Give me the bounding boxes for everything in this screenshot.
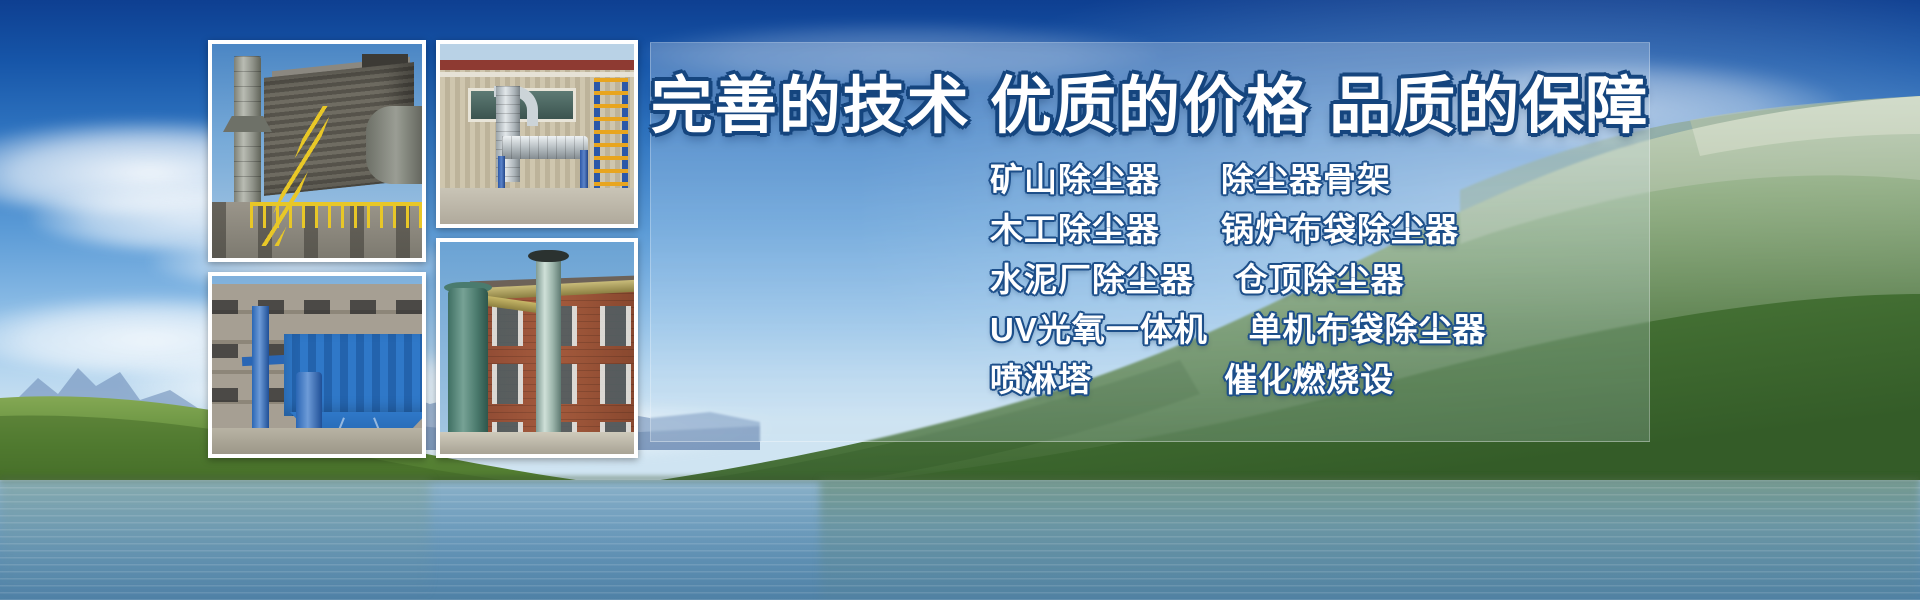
photo-brick-plant-stack-tower[interactable] (436, 238, 638, 458)
banner-headline: 完善的技术 优质的价格 品质的保障 (650, 55, 1650, 145)
product-photo-collage (208, 40, 638, 458)
product-line: UV光氧一体机 单机布袋除尘器 (990, 305, 1690, 355)
lake-water (0, 480, 1920, 600)
teal-scrubber-tower (448, 288, 488, 454)
horizontal-duct (502, 136, 588, 159)
galvanized-stack (536, 256, 561, 452)
ground-surface (440, 432, 634, 454)
product-line: 水泥厂除尘器 仓顶除尘器 (990, 255, 1690, 305)
concrete-yard (440, 188, 634, 224)
promo-banner: 完善的技术 优质的价格 品质的保障 矿山除尘器 除尘器骨架 木工除尘器 锅炉布袋… (0, 0, 1920, 600)
product-line: 矿山除尘器 除尘器骨架 (990, 155, 1690, 205)
eave-trim (440, 72, 634, 77)
stack-rain-cap (528, 250, 569, 262)
ground-surface (212, 428, 422, 454)
building-windows (492, 306, 634, 436)
product-line: 喷淋塔 催化燃烧设 (990, 355, 1690, 405)
inlet-duct (366, 106, 422, 184)
photo-workshop-duct-system[interactable] (436, 40, 638, 228)
product-list: 矿山除尘器 除尘器骨架 木工除尘器 锅炉布袋除尘器 水泥厂除尘器 仓顶除尘器 U… (990, 155, 1690, 405)
yellow-railing (250, 202, 422, 228)
photo-blue-pulse-jet-collector[interactable] (208, 272, 426, 458)
product-line: 木工除尘器 锅炉布袋除尘器 (990, 205, 1690, 255)
photo-baghouse-dust-collector[interactable] (208, 40, 426, 262)
water-ripples (0, 480, 1920, 600)
